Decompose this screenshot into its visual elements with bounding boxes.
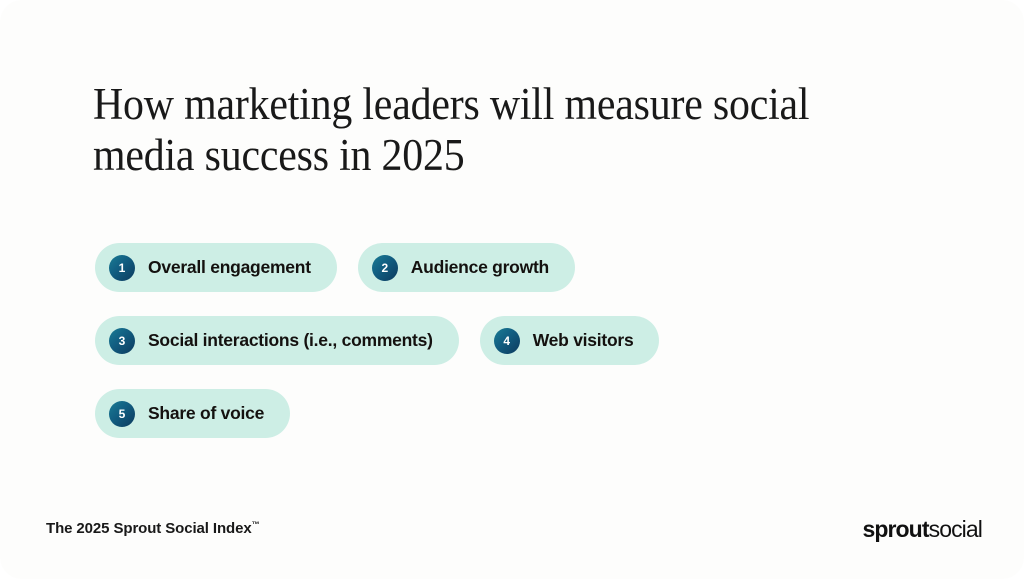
metric-label-3: Social interactions (i.e., comments) <box>148 330 433 351</box>
metrics-row-2: 3 Social interactions (i.e., comments) 4… <box>95 316 955 365</box>
rank-badge-5: 5 <box>109 401 135 427</box>
metrics-list: 1 Overall engagement 2 Audience growth 3… <box>95 243 955 438</box>
metric-label-5: Share of voice <box>148 403 264 424</box>
metric-label-4: Web visitors <box>533 330 634 351</box>
metric-pill-4[interactable]: 4 Web visitors <box>480 316 660 365</box>
rank-badge-3: 3 <box>109 328 135 354</box>
metric-label-1: Overall engagement <box>148 257 311 278</box>
source-text: The 2025 Sprout Social Index <box>46 520 252 537</box>
rank-badge-4: 4 <box>494 328 520 354</box>
metric-label-2: Audience growth <box>411 257 549 278</box>
source-attribution: The 2025 Sprout Social Index™ <box>46 520 260 537</box>
metric-pill-1[interactable]: 1 Overall engagement <box>95 243 337 292</box>
sprout-social-logo: sproutsocial <box>862 516 982 543</box>
infographic-card: How marketing leaders will measure socia… <box>0 0 1024 579</box>
metric-pill-2[interactable]: 2 Audience growth <box>358 243 575 292</box>
rank-badge-2: 2 <box>372 255 398 281</box>
metric-pill-3[interactable]: 3 Social interactions (i.e., comments) <box>95 316 459 365</box>
trademark-symbol: ™ <box>252 520 260 529</box>
logo-word-social: social <box>929 516 982 542</box>
page-title: How marketing leaders will measure socia… <box>93 79 893 181</box>
rank-badge-1: 1 <box>109 255 135 281</box>
logo-word-sprout: sprout <box>862 516 928 542</box>
metrics-row-1: 1 Overall engagement 2 Audience growth <box>95 243 955 292</box>
metric-pill-5[interactable]: 5 Share of voice <box>95 389 290 438</box>
metrics-row-3: 5 Share of voice <box>95 389 955 438</box>
